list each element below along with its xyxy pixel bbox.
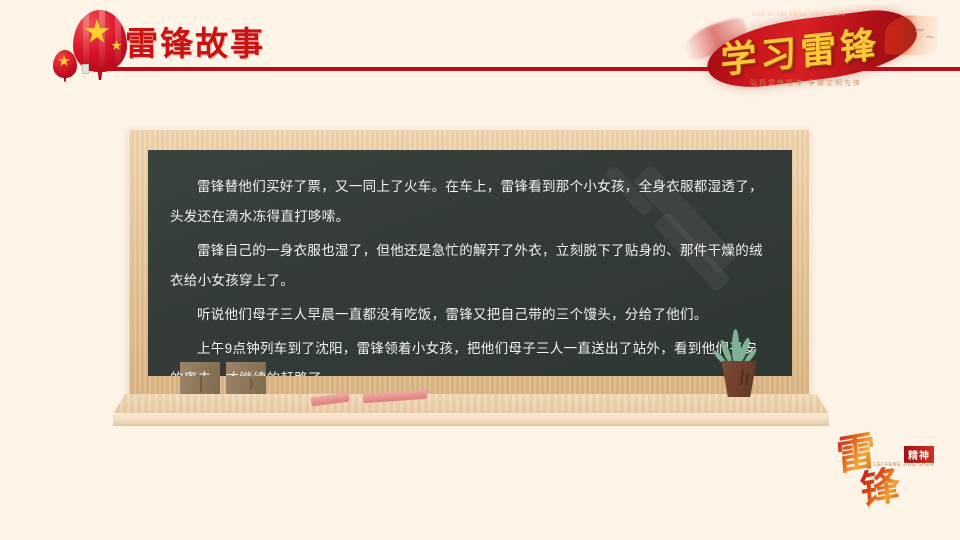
page-title: 雷锋故事 — [125, 24, 265, 64]
balloon-gore — [83, 10, 89, 72]
brush-logo-bottom-caption: 弘扬雷锋精神 争做文明先锋 — [750, 78, 862, 88]
book-detail-line — [250, 378, 252, 390]
book-detail-line — [200, 376, 202, 392]
brush-logo-text: 学习雷锋 — [720, 12, 910, 84]
pot-detail-line — [740, 369, 744, 385]
balloon-gore — [99, 10, 105, 72]
shelf-front-face — [113, 413, 829, 426]
story-paragraph: 听说他们母子三人早晨一直都没有吃饭，雷锋又把自己带的三个馒头，分给了他们。 — [170, 300, 766, 330]
footer-logo-char-2: 锋 — [859, 464, 901, 511]
study-leifeng-brush-logo: 〜 〜 XUE XI LEI FENG JING SHEN 学习雷锋 弘扬雷锋精… — [680, 4, 938, 102]
small-balloon-star-icon — [58, 55, 70, 67]
story-paragraph: 上午9点钟列车到了沈阳，雷锋领着小女孩，把他们母子三人一直送出了站外，看到他们平… — [170, 334, 766, 376]
blackboard-surface: 雷锋替他们买好了票，又一同上了火车。在车上，雷锋看到那个小女孩，全身衣服都湿透了… — [148, 150, 792, 376]
header-divider-cap — [82, 64, 89, 74]
story-text-body: 雷锋替他们买好了票，又一同上了火车。在车上，雷锋看到那个小女孩，全身衣服都湿透了… — [148, 150, 792, 376]
plant-pot — [719, 361, 759, 397]
potted-plant-icon — [707, 329, 769, 399]
footer-logo-caption: LEI FENG JING SHEN — [874, 462, 934, 469]
large-balloon-icon — [73, 10, 127, 72]
story-paragraph: 雷锋替他们买好了票，又一同上了火车。在车上，雷锋看到那个小女孩，全身衣服都湿透了… — [170, 172, 766, 232]
leifeng-footer-logo: 雷 锋 精神 LEI FENG JING SHEN — [830, 432, 938, 522]
page-header: 雷锋故事 〜 〜 XUE XI LEI FENG JING SHEN 学习雷锋 … — [0, 0, 960, 108]
brush-logo-top-caption: XUE XI LEI FENG JING SHEN — [752, 12, 846, 18]
bird-icon: 〜 — [926, 32, 934, 43]
footer-logo-badge: 精神 — [904, 446, 934, 463]
story-paragraph: 雷锋自己的一身衣服也湿了，但他还是急忙的解开了外衣，立刻脱下了贴身的、那件干燥的… — [170, 236, 766, 296]
balloon-gore — [115, 10, 121, 72]
pot-detail-line — [745, 373, 749, 385]
